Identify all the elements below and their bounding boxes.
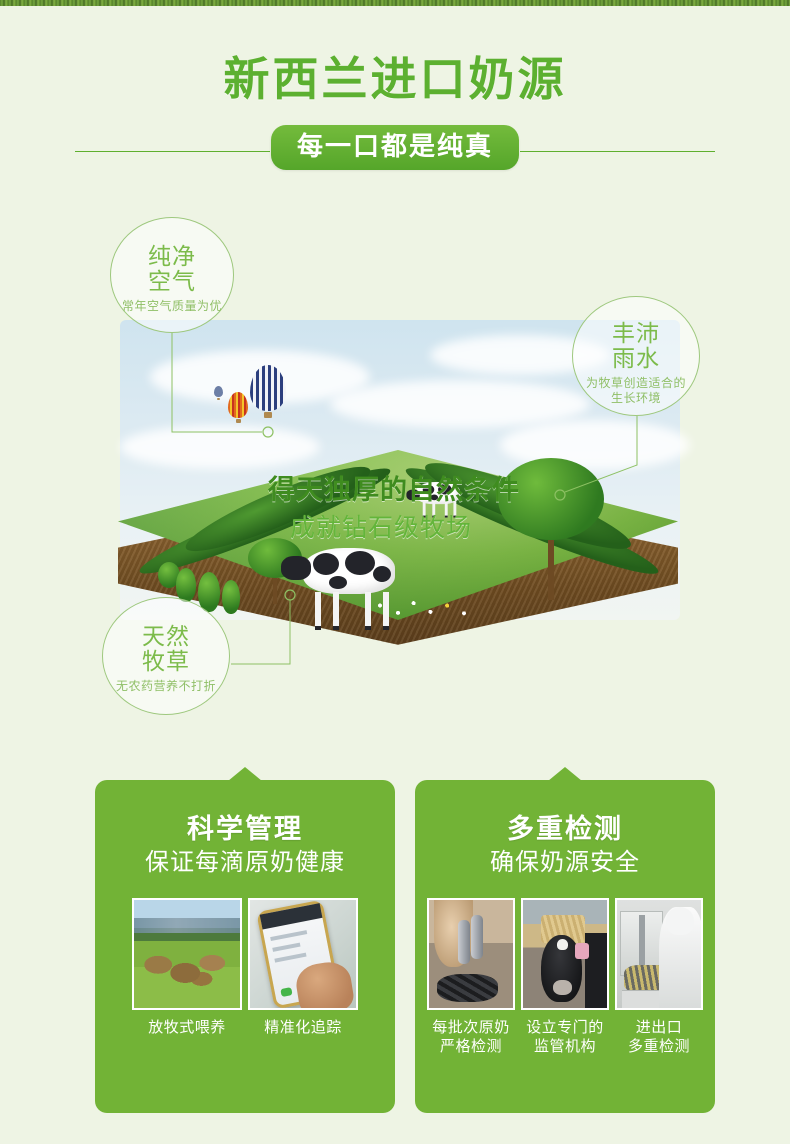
callout-title-line2: 空气 (111, 269, 233, 294)
photo-caption: 精准化追踪 (248, 1019, 358, 1038)
scene-heading-main: 得天独厚的自然条件 (268, 468, 520, 507)
callout-pure-air: 纯净 空气 常年空气质量为优 (110, 217, 234, 333)
card-scientific-management: 科学管理 保证每滴原奶健康 (95, 780, 395, 1113)
card-thumbnails (415, 898, 715, 1010)
page-title: 新西兰进口奶源 (0, 56, 790, 102)
hot-air-balloon-icon (214, 386, 223, 400)
promo-page: 新西兰进口奶源 每一口都是纯真 (0, 0, 790, 1144)
header-rule-right (520, 151, 715, 152)
hot-air-balloon-icon (228, 392, 248, 423)
callout-subtitle-line1: 为牧草创造适合的 (573, 376, 699, 391)
photo-lab-worker-whitesuit (615, 898, 703, 1010)
callout-title-line2: 雨水 (573, 346, 699, 371)
shrub-icon (176, 568, 196, 602)
photo-caption: 进出口 多重检测 (615, 1019, 703, 1057)
callout-title-line2: 牧草 (103, 649, 229, 674)
photo-caption: 每批次原奶 严格检测 (427, 1019, 515, 1057)
photo-caption-line1: 每批次原奶 (427, 1019, 515, 1038)
hot-air-balloon-icon (250, 365, 286, 418)
card-subtitle: 确保奶源安全 (415, 849, 715, 877)
card-captions: 每批次原奶 严格检测 设立专门的 监管机构 进出口 多重检测 (415, 1019, 715, 1057)
card-notch (548, 767, 582, 781)
photo-cows-grazing-pasture (132, 898, 242, 1010)
callout-title-line1: 纯净 (111, 244, 233, 269)
photo-caption: 放牧式喂养 (132, 1019, 242, 1038)
photo-caption-line2: 严格检测 (427, 1038, 515, 1057)
card-notch (228, 767, 262, 781)
card-subtitle: 保证每滴原奶健康 (95, 849, 395, 877)
card-multiple-testing: 多重检测 确保奶源安全 (415, 780, 715, 1113)
cow-icon (303, 548, 395, 594)
callout-title-line1: 天然 (103, 624, 229, 649)
photo-caption-line1: 进出口 (615, 1019, 703, 1038)
shrub-icon (222, 580, 240, 614)
callout-title-line1: 丰沛 (573, 321, 699, 346)
callout-abundant-rain: 丰沛 雨水 为牧草创造适合的 生长环境 (572, 296, 700, 416)
callout-subtitle-line2: 生长环境 (573, 391, 699, 406)
card-title: 科学管理 (95, 780, 395, 845)
wildflowers (368, 596, 488, 620)
photo-caption: 设立专门的 监管机构 (521, 1019, 609, 1057)
callout-subtitle: 无农药营养不打折 (103, 679, 229, 694)
card-title: 多重检测 (415, 780, 715, 845)
photo-hand-holding-phone (248, 898, 358, 1010)
top-grass-strip (0, 0, 790, 6)
header-rule-left (75, 151, 270, 152)
card-captions: 放牧式喂养 精准化追踪 (95, 1019, 395, 1038)
scene-heading-sub: 成就钻石级牧场 (290, 508, 472, 544)
feature-cards: 科学管理 保证每滴原奶健康 (0, 768, 790, 1113)
callout-subtitle: 常年空气质量为优 (111, 299, 233, 314)
photo-black-cow-eartag (521, 898, 609, 1010)
photo-caption-line2: 监管机构 (521, 1038, 609, 1057)
header-subtitle-pill: 每一口都是纯真 (271, 125, 519, 170)
photo-milking-machine (427, 898, 515, 1010)
photo-caption-line2: 多重检测 (615, 1038, 703, 1057)
photo-caption-line1: 设立专门的 (521, 1019, 609, 1038)
card-thumbnails (95, 898, 395, 1010)
callout-natural-grass: 天然 牧草 无农药营养不打折 (102, 597, 230, 715)
